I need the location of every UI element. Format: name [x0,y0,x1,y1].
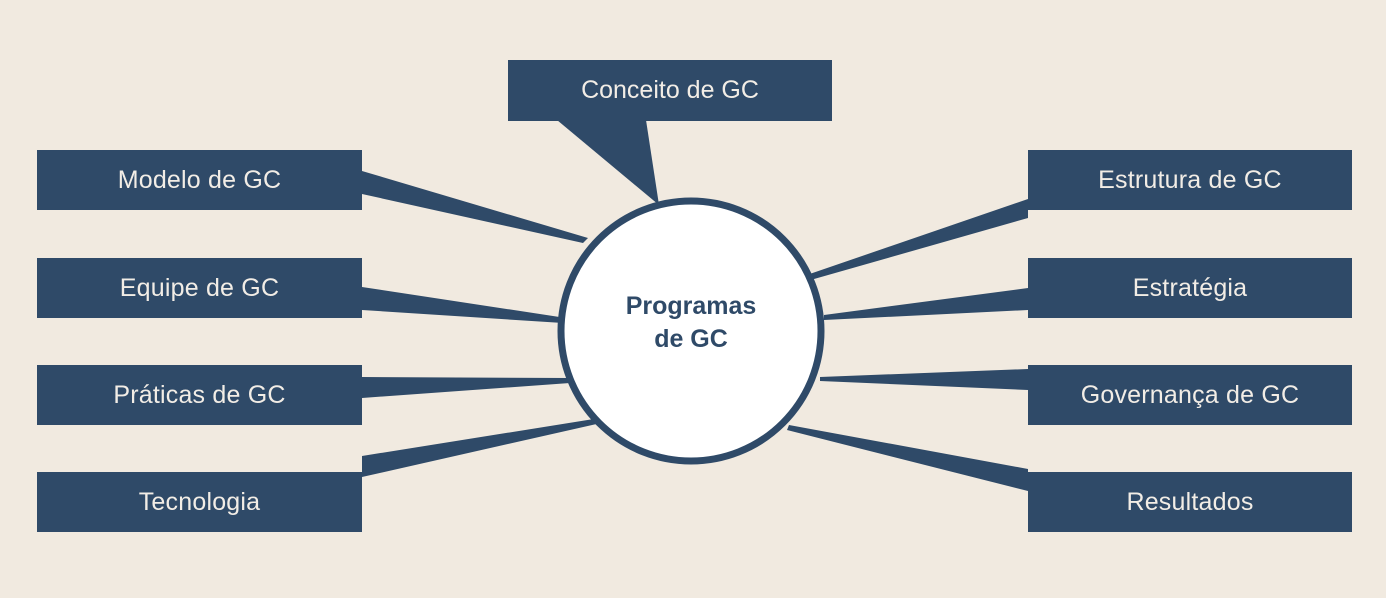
node-label: Governança de GC [1081,380,1300,410]
connector-praticas-de-gc [362,377,570,398]
node-label: Modelo de GC [118,165,282,195]
node-equipe-de-gc[interactable]: Equipe de GC [37,258,362,318]
diagram-canvas: Conceito de GC Modelo de GC Equipe de GC… [0,0,1386,598]
connector-estrategia [824,288,1028,320]
node-praticas-de-gc[interactable]: Práticas de GC [37,365,362,425]
node-modelo-de-gc[interactable]: Modelo de GC [37,150,362,210]
connector-equipe-de-gc [362,287,566,323]
connector-governanca-de-gc [820,369,1028,390]
node-estrategia[interactable]: Estratégia [1028,258,1352,318]
node-label: Tecnologia [139,487,261,517]
center-circle [561,201,821,461]
callout-tail [557,120,659,205]
node-conceito-de-gc[interactable]: Conceito de GC [508,60,832,121]
node-label: Resultados [1126,487,1253,517]
connector-modelo-de-gc [362,171,588,243]
connector-estrutura-de-gc [798,199,1028,283]
node-label: Estrutura de GC [1098,165,1282,195]
node-governanca-de-gc[interactable]: Governança de GC [1028,365,1352,425]
node-tecnologia[interactable]: Tecnologia [37,472,362,532]
node-label: Conceito de GC [581,76,759,105]
connector-tecnologia [362,418,601,477]
node-estrutura-de-gc[interactable]: Estrutura de GC [1028,150,1352,210]
node-label: Equipe de GC [120,273,279,303]
node-label: Práticas de GC [113,380,285,410]
node-resultados[interactable]: Resultados [1028,472,1352,532]
node-label: Estratégia [1133,273,1248,303]
connector-resultados [787,425,1028,491]
